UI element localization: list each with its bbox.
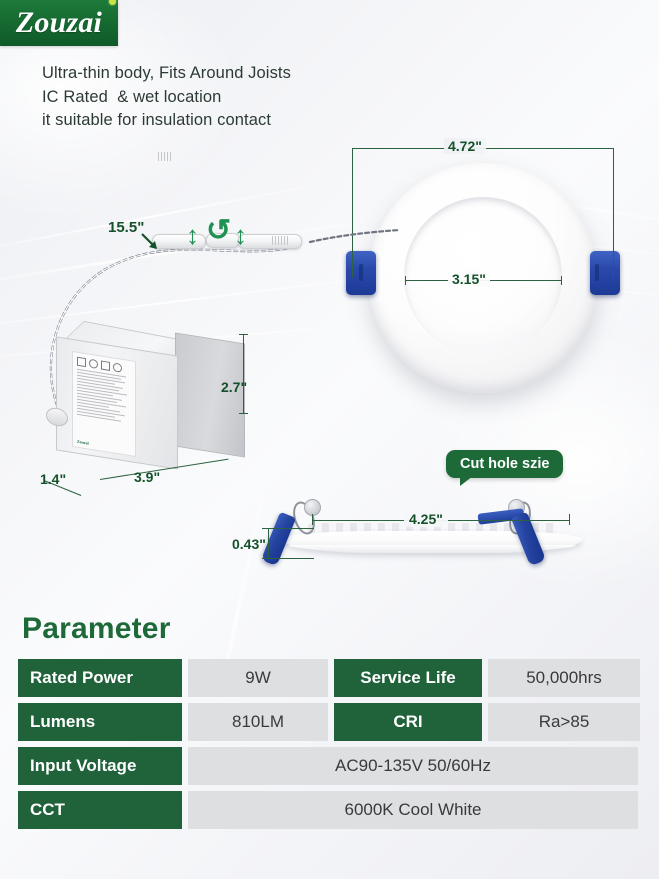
table-row: Rated Power9WService Life50,000hrs — [18, 659, 644, 697]
cut-hole-callout-label: Cut hole szie — [460, 456, 549, 472]
parameter-table: Rated Power9WService Life50,000hrsLumens… — [18, 659, 644, 835]
table-value-cell: 810LM — [188, 703, 328, 741]
feature-list: Ultra-thin body, Fits Around Joists IC R… — [42, 62, 372, 133]
table-row: Input VoltageAC90-135V 50/60Hz — [18, 747, 644, 785]
dim-label-cable-length: 15.5" — [108, 219, 144, 236]
feature-line-2: IC Rated & wet location — [42, 86, 372, 110]
dim-ext-thickness-bottom — [262, 558, 314, 559]
table-value-cell: Ra>85 — [488, 703, 640, 741]
cable-connector-right — [238, 234, 302, 249]
brand-logo: Zouzai — [0, 0, 118, 46]
table-header-cell: CCT — [18, 791, 182, 829]
dim-label-fixture-outer: 4.72" — [444, 138, 486, 154]
table-header-cell: CRI — [334, 703, 482, 741]
product-infographic: Zouzai Ultra-thin body, Fits Around Jois… — [0, 0, 659, 879]
dim-label-jbox-width: 3.9" — [134, 469, 160, 485]
page-title: Parameter — [22, 612, 171, 646]
dim-tick-lens-left — [405, 276, 406, 285]
dim-tick-jbox-h-bottom — [239, 413, 248, 414]
jbox-spec-label: Zouzai — [72, 351, 136, 457]
brand-logo-text: Zouzai — [16, 8, 102, 38]
jbox-label-brand: Zouzai — [77, 439, 89, 446]
table-value-cell: 50,000hrs — [488, 659, 640, 697]
dim-tick-cut-right — [569, 514, 570, 525]
twist-arrow-icon: ↕ — [234, 222, 247, 248]
callout-tail-icon — [460, 476, 473, 486]
table-header-cell: Lumens — [18, 703, 182, 741]
dim-tick-lens-right — [561, 276, 562, 285]
jbox-right-face — [175, 332, 245, 457]
table-header-cell: Rated Power — [18, 659, 182, 697]
dim-label-jbox-height: 2.7" — [221, 379, 247, 395]
table-row: CCT6000K Cool White — [18, 791, 644, 829]
dim-line-jbox-height — [243, 334, 244, 414]
dim-ext-thickness-top — [262, 528, 314, 529]
feature-line-1: Ultra-thin body, Fits Around Joists — [42, 62, 372, 86]
dim-line-thickness — [268, 528, 269, 558]
feature-line-3: it suitable for insulation contact — [42, 109, 372, 133]
dim-label-jbox-depth: 1.4" — [40, 471, 66, 487]
dim-label-cut-hole: 4.25" — [404, 511, 448, 527]
twist-arrow-icon: ↕ — [186, 222, 199, 248]
table-value-cell: 9W — [188, 659, 328, 697]
dim-tick-jbox-h-top — [239, 334, 248, 335]
dim-label-fixture-thickness: 0.43" — [232, 536, 266, 552]
spring-clip-icon — [590, 251, 620, 295]
table-row: Lumens810LMCRIRa>85 — [18, 703, 644, 741]
dim-label-lens-inner: 3.15" — [448, 271, 490, 287]
twist-arrow-icon: ↺ — [206, 216, 231, 246]
table-value-cell: 6000K Cool White — [188, 791, 638, 829]
dim-tick-cut-left — [312, 514, 313, 525]
table-value-cell: AC90-135V 50/60Hz — [188, 747, 638, 785]
cut-hole-callout: Cut hole szie — [446, 450, 563, 478]
cable-leader-arrow-icon — [140, 232, 166, 254]
table-header-cell: Input Voltage — [18, 747, 182, 785]
junction-box-icon: Zouzai — [48, 324, 238, 469]
table-header-cell: Service Life — [334, 659, 482, 697]
brand-logo-dot-icon — [109, 0, 116, 5]
dim-ext-right-outer — [613, 148, 614, 278]
